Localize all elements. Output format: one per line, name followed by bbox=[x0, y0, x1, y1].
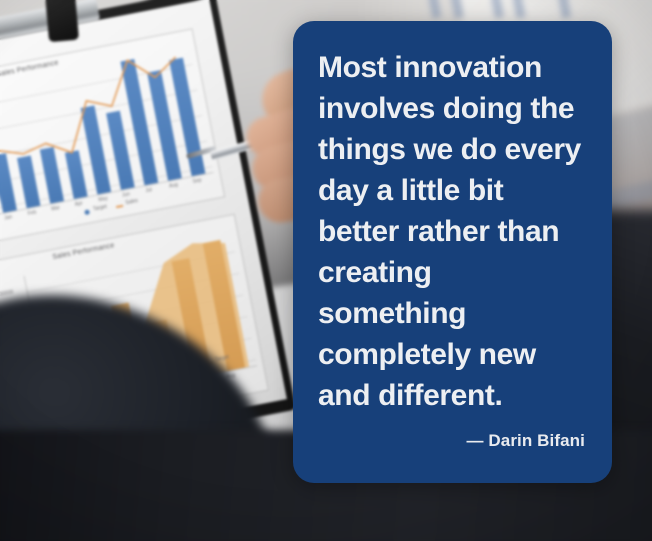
quote-text: Most innovation involves doing the thing… bbox=[318, 47, 587, 416]
x-tick-label: Jul bbox=[145, 187, 152, 194]
y-tick-label: 30000 bbox=[0, 289, 14, 298]
x-tick-label: Mar bbox=[51, 205, 61, 213]
x-tick-label: Apr bbox=[74, 201, 83, 208]
x-tick-label: Aug bbox=[169, 182, 179, 190]
x-tick-label: Jun bbox=[122, 191, 131, 198]
target-line-series bbox=[0, 48, 213, 213]
x-tick-label: Sep bbox=[192, 177, 202, 185]
top-chart-frame: Sales Performance 5000 10000 15000 20000… bbox=[0, 28, 225, 246]
bottom-chart-title: Sales Performance bbox=[52, 242, 115, 261]
quote-spacer bbox=[318, 416, 587, 431]
legend-label-sales: Sales bbox=[125, 198, 138, 206]
legend-marker-sales bbox=[116, 205, 123, 208]
quote-card: Most innovation involves doing the thing… bbox=[293, 21, 612, 483]
quote-graphic-canvas: Sales Performance 5000 10000 15000 20000… bbox=[0, 0, 652, 541]
legend-marker-target bbox=[84, 209, 90, 215]
x-tick-label: Jan bbox=[4, 214, 13, 221]
clipboard-clip-lever bbox=[45, 0, 79, 42]
quote-attribution: — Darin Bifani bbox=[318, 431, 587, 463]
legend-label-target: Target bbox=[93, 204, 108, 213]
x-tick-label: May bbox=[98, 196, 108, 204]
x-tick-label: Feb bbox=[27, 210, 37, 218]
